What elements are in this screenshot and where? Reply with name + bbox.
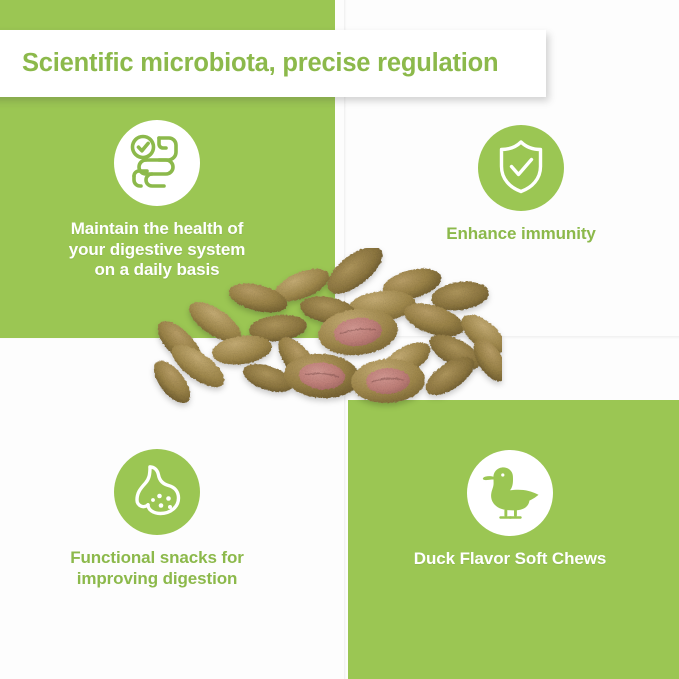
caption-line: improving digestion: [41, 569, 273, 590]
duck-icon: [479, 463, 541, 524]
caption-line: on a daily basis: [41, 260, 273, 281]
page-title: Scientific microbiota, precise regulatio…: [22, 49, 498, 78]
feature-immunity: Enhance immunity: [406, 125, 636, 245]
feature-duck-flavor: Duck Flavor Soft Chews: [394, 450, 626, 570]
badge-immunity: [478, 125, 564, 211]
caption-line: your digestive system: [41, 240, 273, 261]
feature-caption: Maintain the health of your digestive sy…: [41, 219, 273, 281]
caption-line: Enhance immunity: [406, 224, 636, 245]
badge-duck-flavor: [467, 450, 553, 536]
feature-caption: Functional snacks for improving digestio…: [41, 548, 273, 589]
caption-line: Maintain the health of: [41, 219, 273, 240]
feature-digestion-snack: Functional snacks for improving digestio…: [41, 449, 273, 589]
title-banner: Scientific microbiota, precise regulatio…: [0, 30, 546, 97]
badge-digestion-snack: [114, 449, 200, 535]
feature-digestive-health: Maintain the health of your digestive sy…: [41, 120, 273, 281]
feature-caption: Duck Flavor Soft Chews: [394, 549, 626, 570]
badge-digestive-health: [114, 120, 200, 206]
feature-caption: Enhance immunity: [406, 224, 636, 245]
caption-line: Duck Flavor Soft Chews: [394, 549, 626, 570]
intestine-check-icon: [127, 132, 187, 195]
infographic-canvas: Scientific microbiota, precise regulatio…: [0, 0, 679, 679]
shield-check-icon: [495, 138, 547, 199]
stomach-icon: [128, 463, 186, 522]
caption-line: Functional snacks for: [41, 548, 273, 569]
